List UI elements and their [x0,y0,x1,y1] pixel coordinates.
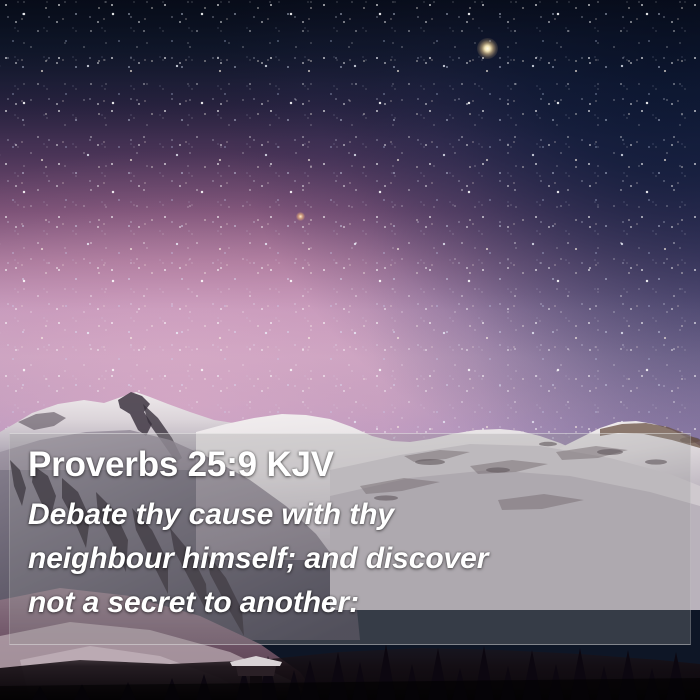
bible-verse-image: Proverbs 25:9 KJV Debate thy cause with … [0,0,700,700]
verse-line-2: neighbour himself; and discover [28,537,674,581]
verse-line-1: Debate thy cause with thy [28,493,674,537]
verse-reference: Proverbs 25:9 KJV [28,445,674,485]
verse-line-3: not a secret to another: [28,581,674,625]
verse-text: Debate thy cause with thy neighbour hims… [28,493,674,625]
verse-overlay-panel: Proverbs 25:9 KJV Debate thy cause with … [9,433,691,645]
